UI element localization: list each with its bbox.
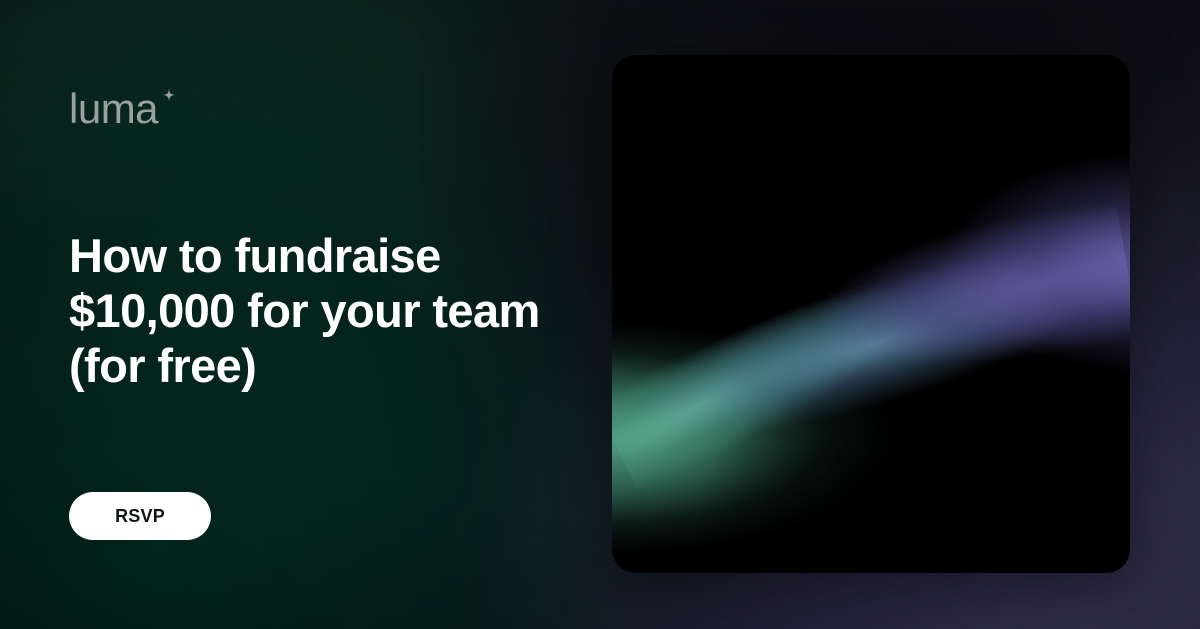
event-cover-image <box>612 55 1130 573</box>
luma-wordmark: luma <box>69 88 158 130</box>
left-content-column: luma How to fundraise $10,000 for your t… <box>69 0 569 629</box>
sparkle-icon <box>160 89 178 112</box>
event-share-card: luma How to fundraise $10,000 for your t… <box>0 0 1200 629</box>
luma-logo[interactable]: luma <box>69 88 178 134</box>
aurora-shadow-overlay <box>612 55 1130 573</box>
rsvp-button[interactable]: RSVP <box>69 492 211 540</box>
event-title: How to fundraise $10,000 for your team (… <box>69 228 569 393</box>
